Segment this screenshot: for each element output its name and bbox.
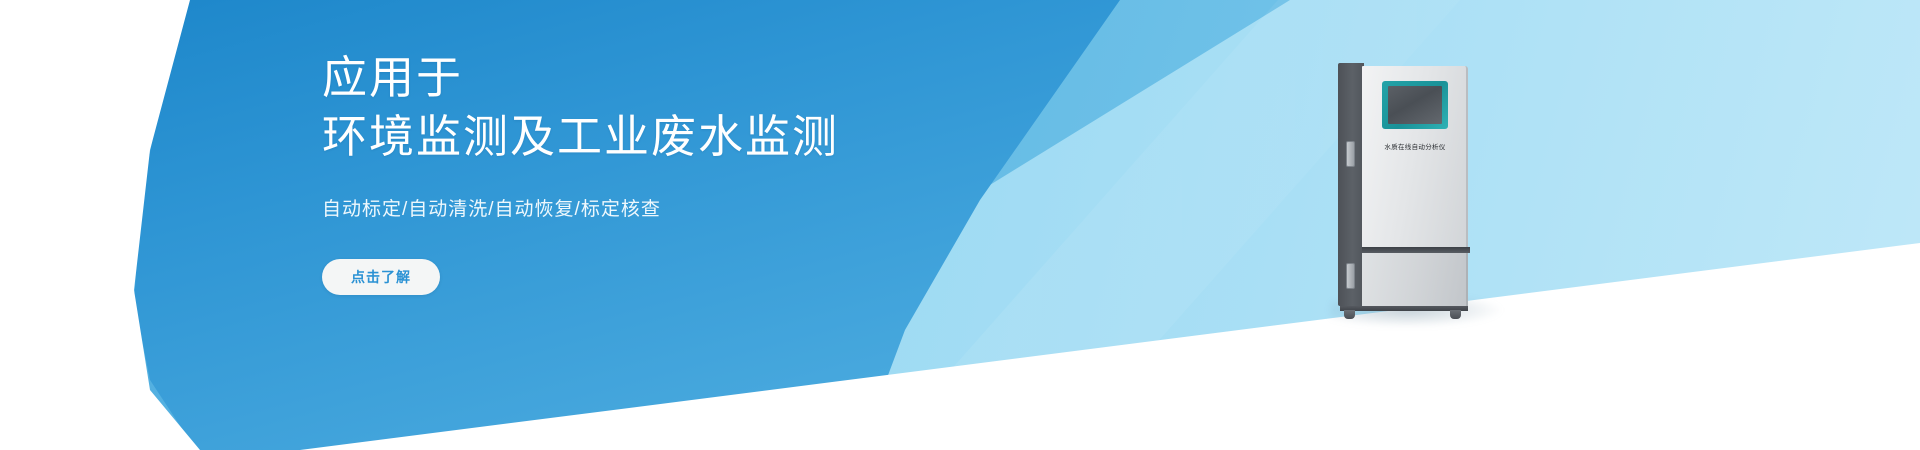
- learn-more-button[interactable]: 点击了解: [322, 259, 440, 295]
- upper-door-handle: [1346, 141, 1355, 167]
- hero-banner: 应用于 环境监测及工业废水监测 自动标定/自动清洗/自动恢复/标定核查 点击了解…: [0, 0, 1920, 450]
- product-image-water-quality-analyzer: 水质在线自动分析仪: [1338, 63, 1470, 315]
- caster-wheel-left: [1344, 310, 1355, 319]
- display-bezel: [1382, 81, 1448, 129]
- hero-subheadline: 自动标定/自动清洗/自动恢复/标定核查: [322, 197, 1082, 224]
- cabinet-product-label: 水质在线自动分析仪: [1366, 141, 1464, 151]
- cabinet-lower-door: [1362, 253, 1468, 306]
- touchscreen-display-icon: [1388, 86, 1442, 124]
- hero-copy-block: 应用于 环境监测及工业废水监测 自动标定/自动清洗/自动恢复/标定核查 点击了解: [322, 48, 1082, 295]
- cabinet-base-plinth: [1340, 306, 1468, 311]
- hero-headline: 应用于 环境监测及工业废水监测: [322, 48, 1082, 167]
- caster-wheel-right: [1450, 310, 1461, 319]
- lower-door-handle: [1346, 263, 1355, 289]
